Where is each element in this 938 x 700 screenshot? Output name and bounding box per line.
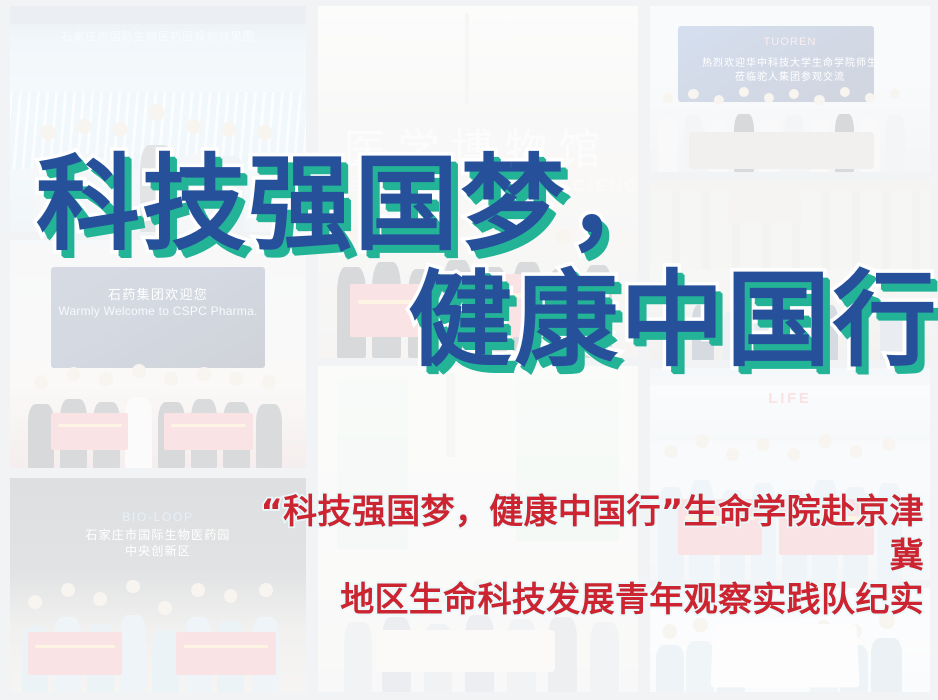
photo-caption: 石家庄市国际生物医药园规划效果图 xyxy=(10,28,306,44)
subtitle-line-2: 地区生命科技发展青年观察实践队纪实 xyxy=(254,578,924,622)
brand-tuoren-logo: TUOREN xyxy=(650,36,930,48)
headline-line-2: 健康中国行 xyxy=(408,268,938,372)
poster-subtitle: “科技强国梦，健康中国行”生命学院赴京津冀 地区生命科技发展青年观察实践队纪实 xyxy=(254,490,924,623)
photo-cspc-welcome: 石药集团欢迎您 Warmly Welcome to CSPC Pharma. xyxy=(10,240,306,468)
photo-scene xyxy=(10,240,306,468)
photo-caption-line1: 热烈欢迎华中科技大学生命学院师生 xyxy=(650,54,930,69)
photo-scene xyxy=(650,6,930,172)
photo-caption-en: Warmly Welcome to CSPC Pharma. xyxy=(10,304,306,318)
subtitle-line-1: “科技强国梦，健康中国行”生命学院赴京津冀 xyxy=(254,490,924,578)
poster-canvas: 石家庄市国际生物医药园规划效果图 石药集团欢迎您 xyxy=(0,0,938,700)
photo-caption-line2: 莅临驼人集团参观交流 xyxy=(650,68,930,83)
photo-caption-cn: 石药集团欢迎您 xyxy=(10,284,306,303)
headline-line-1: 科技强国梦， xyxy=(36,152,672,256)
photo-tuoren-meeting: TUOREN 热烈欢迎华中科技大学生命学院师生 莅临驼人集团参观交流 xyxy=(650,6,930,172)
photo-banner-text: LIFE xyxy=(650,390,930,407)
